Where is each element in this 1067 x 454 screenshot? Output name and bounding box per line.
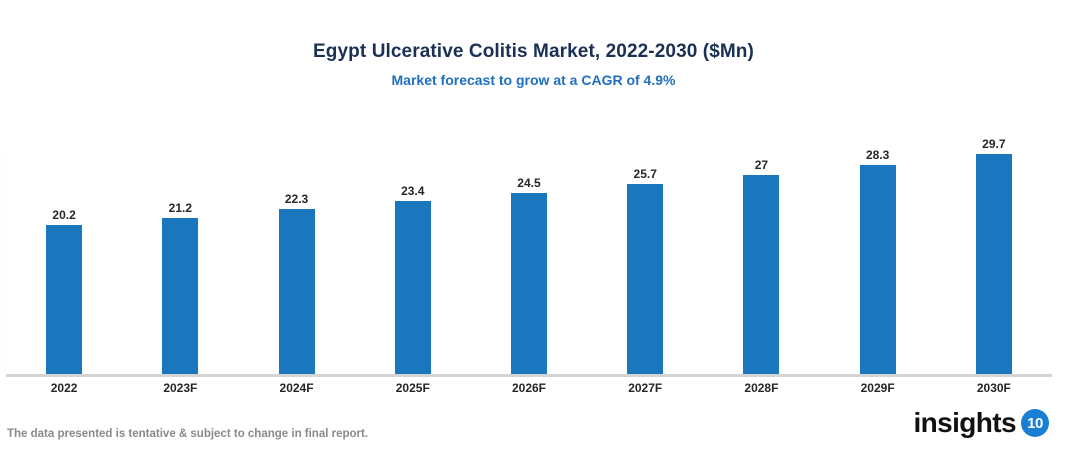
bar-slot[interactable]: 27 [703, 110, 819, 375]
x-axis-line [6, 374, 1052, 377]
logo-badge-icon: 10 [1021, 409, 1049, 437]
bar-value-label: 22.3 [285, 192, 308, 206]
bar[interactable] [976, 154, 1012, 375]
bar-slot[interactable]: 25.7 [587, 110, 703, 375]
x-axis-tick-label: 2027F [587, 379, 703, 397]
bar-value-label: 27 [755, 158, 768, 172]
x-axis-tick-label: 2028F [703, 379, 819, 397]
bar-slot[interactable]: 20.2 [6, 110, 122, 375]
bar-value-label: 21.2 [169, 201, 192, 215]
plot-area: 20.221.222.323.424.525.72728.329.7 [6, 110, 1052, 375]
bar-slot[interactable]: 29.7 [936, 110, 1052, 375]
bar[interactable] [860, 165, 896, 375]
x-axis-tick-label: 2023F [122, 379, 238, 397]
bar-slot[interactable]: 22.3 [238, 110, 354, 375]
bar[interactable] [511, 193, 547, 375]
bar[interactable] [743, 175, 779, 375]
title-block: Egypt Ulcerative Colitis Market, 2022-20… [0, 40, 1067, 90]
insights10-logo: insights 10 [913, 406, 1049, 440]
bar[interactable] [46, 225, 82, 375]
bar-value-label: 24.5 [517, 176, 540, 190]
x-axis-labels: 20222023F2024F2025F2026F2027F2028F2029F2… [6, 379, 1052, 397]
chart-subtitle: Market forecast to grow at a CAGR of 4.9… [0, 70, 1067, 90]
x-axis-tick-label: 2024F [238, 379, 354, 397]
logo-wordmark: insights [913, 408, 1016, 438]
bar-value-label: 28.3 [866, 148, 889, 162]
x-axis-tick-label: 2026F [471, 379, 587, 397]
bar-slot[interactable]: 21.2 [122, 110, 238, 375]
bar-series: 20.221.222.323.424.525.72728.329.7 [6, 110, 1052, 375]
bar-value-label: 20.2 [52, 208, 75, 222]
bar-slot[interactable]: 23.4 [355, 110, 471, 375]
x-axis-tick-label: 2030F [936, 379, 1052, 397]
chart-figure: Egypt Ulcerative Colitis Market, 2022-20… [0, 0, 1067, 454]
bar-value-label: 25.7 [634, 167, 657, 181]
bar[interactable] [162, 218, 198, 375]
y-axis-line [5, 150, 6, 374]
x-axis-tick-label: 2029F [820, 379, 936, 397]
bar[interactable] [395, 201, 431, 375]
bar-value-label: 23.4 [401, 184, 424, 198]
bar[interactable] [627, 184, 663, 375]
disclaimer-text: The data presented is tentative & subjec… [7, 427, 368, 442]
bar-slot[interactable]: 28.3 [820, 110, 936, 375]
bar[interactable] [279, 209, 315, 375]
page-title: Egypt Ulcerative Colitis Market, 2022-20… [0, 40, 1067, 64]
bar-slot[interactable]: 24.5 [471, 110, 587, 375]
bar-value-label: 29.7 [982, 137, 1005, 151]
x-axis-tick-label: 2025F [355, 379, 471, 397]
x-axis-tick-label: 2022 [6, 379, 122, 397]
